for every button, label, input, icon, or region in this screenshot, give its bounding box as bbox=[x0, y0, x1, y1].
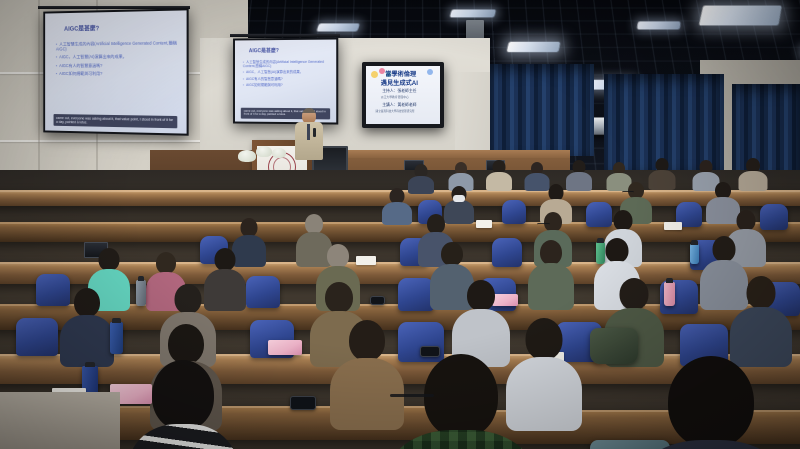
confetti-dot bbox=[427, 69, 433, 75]
eyeglasses-icon bbox=[390, 394, 434, 397]
confetti-dot bbox=[379, 68, 385, 74]
seat[interactable] bbox=[398, 278, 434, 311]
water-bottle bbox=[110, 322, 123, 354]
slide-bullet: AIGC如何規範與可利用? bbox=[56, 71, 181, 76]
person-body bbox=[739, 171, 768, 191]
audience-person-foreground bbox=[128, 360, 238, 449]
seat[interactable] bbox=[492, 238, 522, 267]
pink-gift-box bbox=[268, 340, 302, 355]
slide-bullet: AIGC，人工智慧(AI)演算出來的成果。 bbox=[243, 70, 332, 75]
person-head bbox=[168, 324, 204, 364]
confetti-dot bbox=[371, 71, 378, 78]
audience-person bbox=[382, 188, 412, 224]
person-head bbox=[325, 282, 353, 313]
water-bottle bbox=[690, 244, 699, 264]
audience-person bbox=[738, 158, 768, 190]
ceiling-light bbox=[506, 42, 560, 52]
ceiling-light bbox=[450, 9, 497, 17]
person-head bbox=[668, 356, 754, 448]
person-head bbox=[156, 252, 176, 274]
person-head bbox=[467, 280, 495, 311]
audience-person-foreground bbox=[386, 354, 536, 449]
person-head bbox=[215, 248, 236, 271]
audience-person-foreground bbox=[636, 356, 786, 449]
person-body bbox=[128, 424, 238, 449]
person-head bbox=[175, 284, 202, 314]
tv-host-affiliation: 淡江大學教育發展中心 bbox=[381, 95, 409, 99]
person-head bbox=[327, 244, 349, 268]
slide-bullet: 人工智慧生成的內容(Artificial Intelligence Genera… bbox=[56, 40, 181, 52]
floor bbox=[0, 392, 120, 449]
water-bottle bbox=[664, 282, 675, 306]
ceiling-light bbox=[699, 6, 782, 26]
audience-area bbox=[0, 170, 800, 449]
seat[interactable] bbox=[16, 318, 58, 356]
person-head bbox=[614, 210, 633, 231]
person-head bbox=[441, 242, 463, 266]
eyeglasses-icon bbox=[622, 191, 634, 194]
window-curtain bbox=[604, 74, 724, 170]
paper-sheet bbox=[664, 222, 682, 230]
water-bottle bbox=[136, 280, 146, 306]
audience-person bbox=[528, 240, 574, 310]
seat[interactable] bbox=[246, 276, 280, 308]
person-head bbox=[544, 212, 562, 232]
person-body bbox=[60, 315, 114, 367]
person-head bbox=[305, 214, 323, 234]
backpack bbox=[590, 328, 638, 364]
paper-sheet bbox=[476, 220, 492, 228]
audience-person bbox=[60, 288, 114, 366]
person-head bbox=[427, 214, 445, 234]
person-head bbox=[424, 354, 498, 438]
screen-top-bar bbox=[230, 34, 340, 37]
projection-screen-left: AIGC是甚麼? 人工智慧生成的內容(Artificial Intelligen… bbox=[43, 8, 188, 135]
tv-speaker-affiliation: 國立臺灣科技大學科技管理研究所 bbox=[376, 109, 415, 113]
person-head bbox=[74, 288, 100, 317]
person-head bbox=[737, 210, 756, 231]
tv-title-line2: 遇見生成式AI bbox=[381, 78, 418, 87]
ceiling-light bbox=[316, 23, 360, 31]
smartphone[interactable] bbox=[370, 296, 385, 305]
decorative-plant bbox=[238, 150, 256, 162]
microphone-icon bbox=[313, 128, 316, 137]
lecture-hall-photo: AIGC是甚麼? 人工智慧生成的內容(Artificial Intelligen… bbox=[0, 0, 800, 449]
person-head bbox=[349, 320, 385, 361]
person-body bbox=[528, 263, 574, 310]
tv-speaker: 主講人：黃老師老師 bbox=[382, 103, 416, 108]
audience-person bbox=[486, 160, 512, 190]
slide-caption: came out, everyone was asking about it, … bbox=[53, 114, 177, 129]
speaker-person bbox=[294, 108, 324, 160]
speaker-tie bbox=[307, 124, 310, 140]
audience-person bbox=[730, 276, 792, 366]
ceiling-light bbox=[637, 21, 681, 29]
slide-bullet: AIGC，人工智慧(AI)演算出來的成果。 bbox=[56, 54, 181, 60]
slide-bullet: AIGC如何規範與可利用? bbox=[243, 83, 332, 87]
eyeglasses-icon bbox=[537, 223, 550, 226]
person-head bbox=[99, 248, 120, 271]
person-head bbox=[152, 360, 214, 430]
person-head bbox=[540, 240, 562, 265]
person-body bbox=[636, 440, 786, 449]
person-head bbox=[606, 238, 629, 263]
person-head bbox=[747, 276, 776, 309]
person-head bbox=[620, 278, 649, 310]
slide-bullet: AIGC有人的智慧意涵嗎? bbox=[56, 62, 181, 68]
window-curtain bbox=[490, 64, 594, 156]
person-body bbox=[486, 172, 512, 191]
slide-bullet: AIGC有人的智慧意涵嗎? bbox=[243, 77, 332, 81]
decorative-plant bbox=[272, 148, 286, 158]
front-desk-top bbox=[330, 150, 570, 158]
screen-top-bar bbox=[38, 6, 190, 9]
audience-person bbox=[648, 158, 676, 190]
person-body bbox=[649, 170, 676, 190]
smartphone[interactable] bbox=[290, 396, 316, 410]
slide-title: AIGC是甚麼? bbox=[64, 23, 99, 32]
tv-monitor: 當學術倫理 遇見生成式AI 主持人：張老師主任 淡江大學教育發展中心 主講人：黃… bbox=[362, 62, 444, 128]
tv-host: 主持人：張老師主任 bbox=[382, 89, 416, 94]
face-mask bbox=[453, 195, 465, 202]
person-head bbox=[713, 236, 736, 262]
slide-bullet: 人工智慧生成的內容(Artificial Intelligence Genera… bbox=[243, 59, 332, 68]
seat[interactable] bbox=[502, 200, 526, 224]
decorative-plant bbox=[256, 146, 272, 157]
person-body bbox=[382, 202, 412, 225]
person-body bbox=[386, 430, 536, 449]
slide-title: AIGC是甚麼? bbox=[249, 47, 279, 54]
